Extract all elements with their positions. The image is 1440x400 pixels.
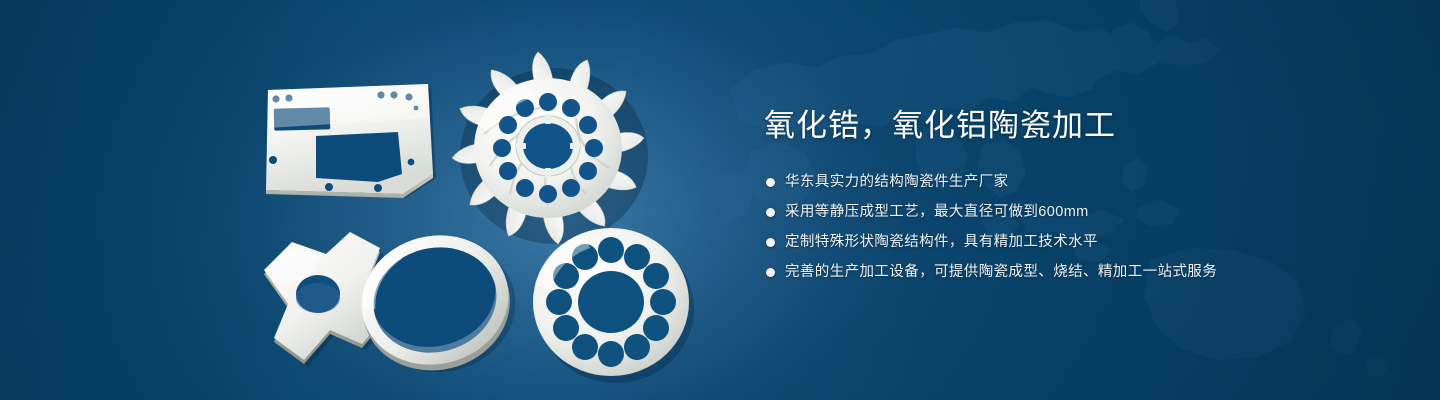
list-item: 采用等静压成型工艺，最大直径可做到600mm	[766, 202, 1404, 222]
banner-copy: 氧化锆，氧化铝陶瓷加工 华东具实力的结构陶瓷件生产厂家 采用等静压成型工艺，最大…	[764, 106, 1404, 292]
bullet-dot-icon	[766, 238, 775, 247]
product-showcase	[0, 0, 740, 400]
ceramic-hole-disc	[522, 222, 700, 382]
ceramic-impeller	[444, 48, 660, 248]
list-item: 定制特殊形状陶瓷结构件，具有精加工技术水平	[766, 232, 1404, 252]
feature-text: 华东具实力的结构陶瓷件生产厂家	[785, 172, 1009, 192]
feature-text: 定制特殊形状陶瓷结构件，具有精加工技术水平	[785, 232, 1098, 252]
bullet-dot-icon	[766, 268, 775, 277]
list-item: 华东具实力的结构陶瓷件生产厂家	[766, 172, 1404, 192]
feature-text: 采用等静压成型工艺，最大直径可做到600mm	[785, 202, 1089, 222]
feature-text: 完善的生产加工设备，可提供陶瓷成型、烧结、精加工一站式服务	[785, 262, 1217, 282]
ceramic-ring	[352, 228, 518, 370]
bullet-dot-icon	[766, 208, 775, 217]
hero-banner: 氧化锆，氧化铝陶瓷加工 华东具实力的结构陶瓷件生产厂家 采用等静压成型工艺，最大…	[0, 0, 1440, 400]
bullet-dot-icon	[766, 178, 775, 187]
ceramic-plate	[252, 78, 442, 200]
list-item: 完善的生产加工设备，可提供陶瓷成型、烧结、精加工一站式服务	[766, 262, 1404, 282]
feature-list: 华东具实力的结构陶瓷件生产厂家 采用等静压成型工艺，最大直径可做到600mm 定…	[766, 172, 1404, 282]
page-title: 氧化锆，氧化铝陶瓷加工	[764, 106, 1404, 146]
